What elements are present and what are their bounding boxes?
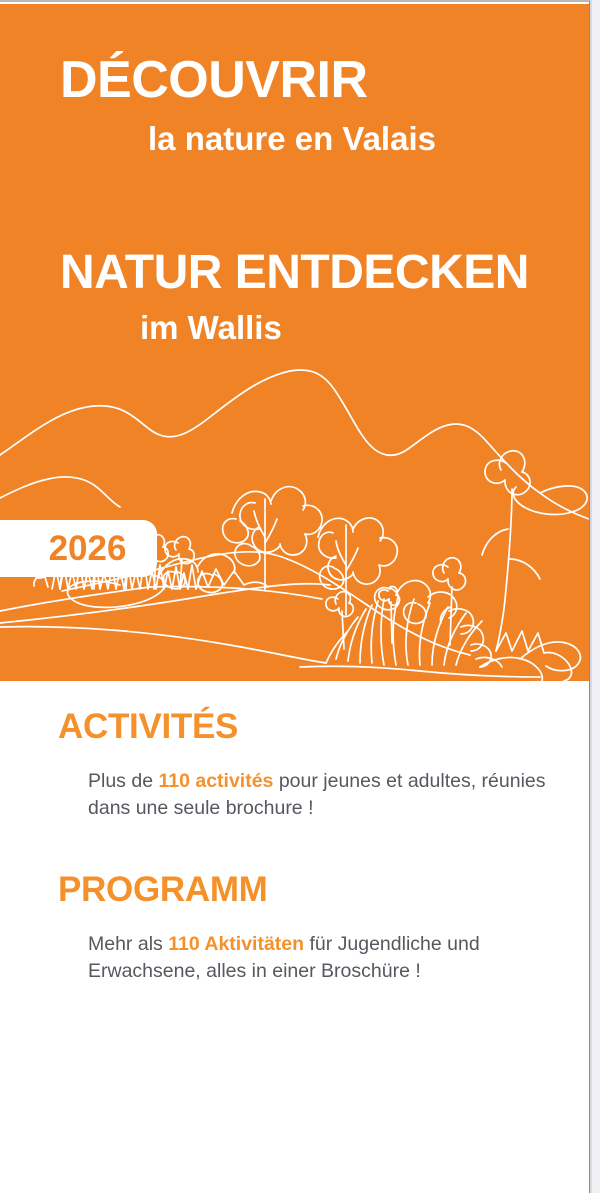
year-badge: 2026 (0, 520, 157, 577)
document-sheet: DÉCOUVRIR la nature en Valais NATUR ENTD… (0, 0, 590, 1193)
section-programm-body: Mehr als 110 Aktivitäten für Jugendliche… (0, 909, 558, 985)
programm-text-highlight: 110 Aktivitäten (168, 933, 304, 955)
activites-text-before: Plus de (88, 770, 158, 792)
section-activites-body: Plus de 110 activités pour jeunes et adu… (0, 746, 558, 822)
hero-banner: DÉCOUVRIR la nature en Valais NATUR ENTD… (0, 4, 589, 681)
brochure-cover-page: DÉCOUVRIR la nature en Valais NATUR ENTD… (0, 0, 600, 1193)
section-programm-heading: PROGRAMM (0, 871, 589, 909)
title-german-main: NATUR ENTDECKEN (60, 247, 529, 299)
title-french-main: DÉCOUVRIR (60, 52, 368, 108)
section-activites: ACTIVITÉS Plus de 110 activités pour jeu… (0, 708, 589, 822)
section-activites-heading: ACTIVITÉS (0, 708, 589, 746)
activites-text-highlight: 110 activités (158, 770, 273, 792)
title-french-subtitle: la nature en Valais (148, 120, 436, 158)
title-german-subtitle: im Wallis (140, 309, 282, 347)
scroll-rail[interactable] (590, 0, 592, 1193)
section-programm: PROGRAMM Mehr als 110 Aktivitäten für Ju… (0, 871, 589, 985)
page-gutter (590, 0, 600, 1193)
year-badge-label: 2026 (31, 531, 127, 566)
programm-text-before: Mehr als (88, 933, 168, 955)
content-area: ACTIVITÉS Plus de 110 activités pour jeu… (0, 681, 589, 1193)
